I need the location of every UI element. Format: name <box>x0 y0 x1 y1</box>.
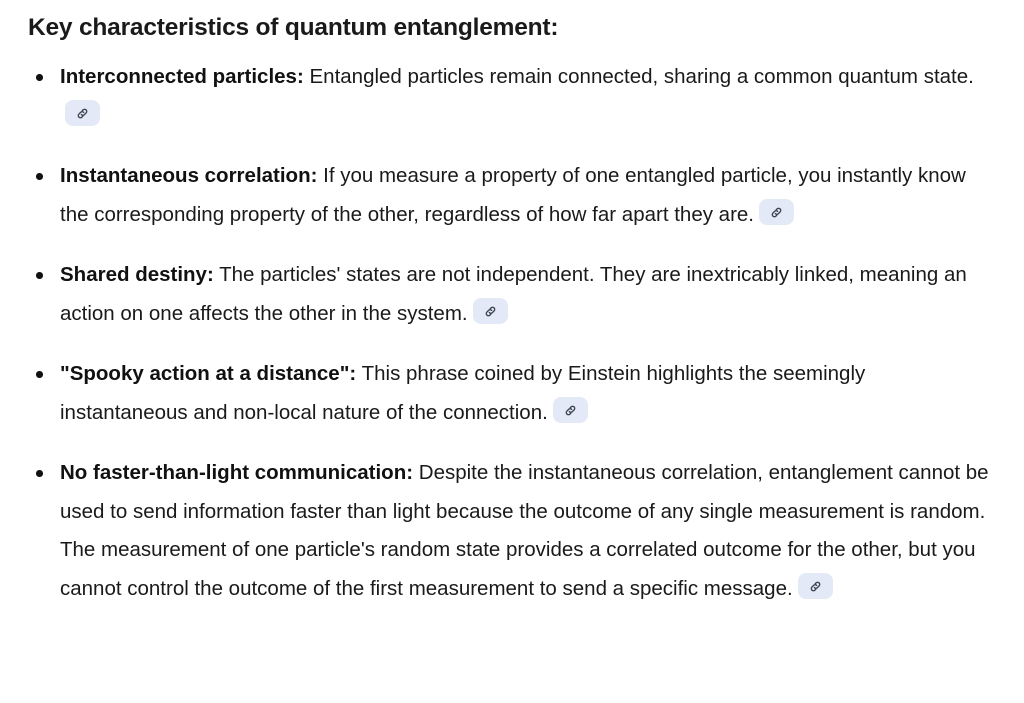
link-icon[interactable] <box>798 573 833 599</box>
bullet-marker-icon <box>36 157 43 196</box>
link-icon[interactable] <box>65 100 100 126</box>
link-icon[interactable] <box>553 397 588 423</box>
characteristics-list: Interconnected particles: Entangled part… <box>28 58 996 608</box>
bullet-marker-icon <box>36 256 43 295</box>
bullet-marker-icon <box>36 454 43 493</box>
list-item-lead-in: "Spooky action at a distance": <box>60 362 356 385</box>
bullet-marker-icon <box>36 58 43 97</box>
link-icon[interactable] <box>473 298 508 324</box>
list-item: "Spooky action at a distance": This phra… <box>28 355 996 432</box>
link-icon[interactable] <box>759 199 794 225</box>
list-item-lead-in: Interconnected particles: <box>60 65 304 88</box>
bullet-marker-icon <box>36 355 43 394</box>
list-item-lead-in: Instantaneous correlation: <box>60 164 317 187</box>
list-item: Instantaneous correlation: If you measur… <box>28 157 996 234</box>
list-item: Interconnected particles: Entangled part… <box>28 58 996 135</box>
list-item: No faster-than-light communication: Desp… <box>28 454 996 608</box>
page-title: Key characteristics of quantum entanglem… <box>28 12 996 44</box>
list-item-text: Entangled particles remain connected, sh… <box>304 65 974 88</box>
list-item: Shared destiny: The particles' states ar… <box>28 256 996 333</box>
list-item-lead-in: Shared destiny: <box>60 263 214 286</box>
answer-block: Key characteristics of quantum entanglem… <box>0 0 1024 608</box>
list-item-lead-in: No faster-than-light communication: <box>60 461 413 484</box>
